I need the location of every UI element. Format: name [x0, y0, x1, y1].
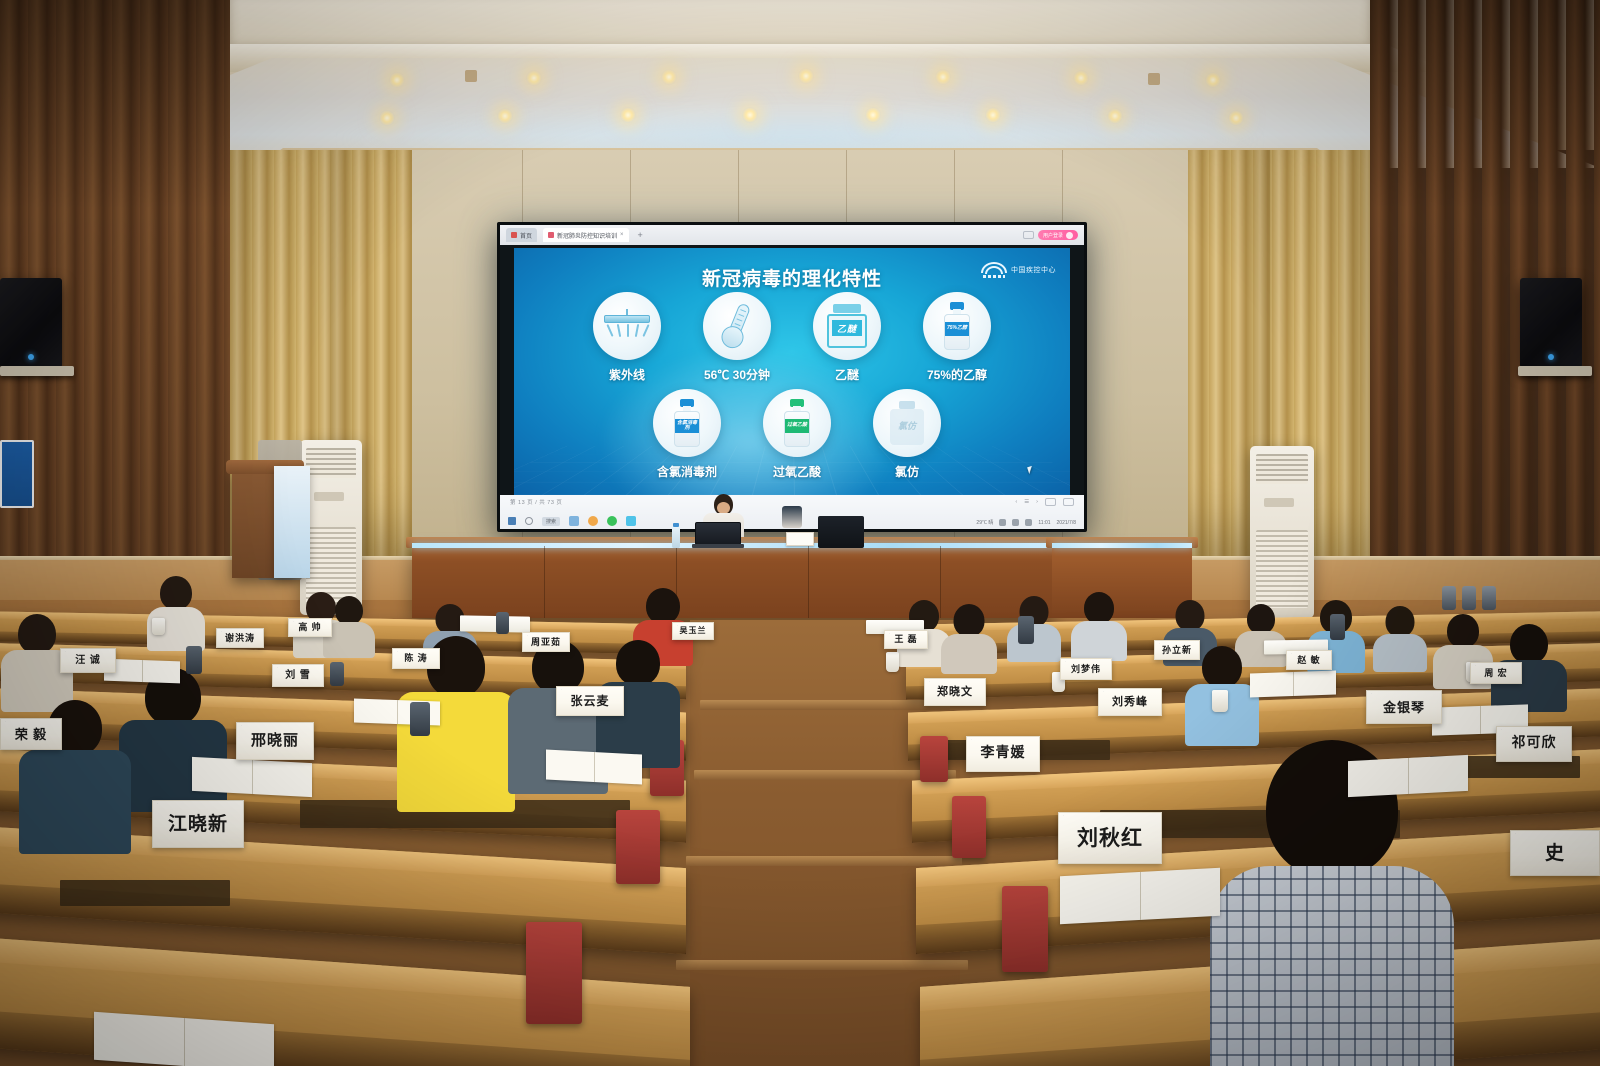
date-label[interactable]: 2021/7/8 [1057, 520, 1076, 526]
nameplate-text: 荣 毅 [15, 728, 47, 741]
nameplate: ·李青媛 [966, 736, 1040, 772]
nameplate-text: 史 [1545, 844, 1565, 863]
nameplate-brand: · [929, 681, 930, 684]
projection-screen[interactable]: 首页 新冠肺炎防控知识培训 × + 用户登录 新冠病毒的理化特性 [497, 222, 1087, 532]
slide-item-label: 56℃ 30分钟 [689, 366, 785, 383]
ceiling-light [1107, 108, 1123, 124]
nameplate-brand: · [277, 667, 278, 670]
seat [952, 796, 986, 858]
slide-item-temperature: 56℃ 30分钟 [689, 292, 785, 383]
nameplate-text: 孙立新 [1162, 646, 1192, 655]
slide-item-label: 紫外线 [579, 366, 675, 383]
slide-item-chloroform: 氯仿 氯仿 [859, 389, 955, 480]
paper [460, 615, 530, 632]
nameplate-brand: · [1515, 833, 1516, 836]
seat [526, 922, 582, 1024]
bottle-cap [673, 523, 679, 527]
nameplate-text: 陈 涛 [404, 654, 427, 663]
nameplate-brand: · [157, 803, 158, 806]
notebook [546, 749, 642, 784]
left-wall-speaker [0, 278, 62, 368]
presenter-laptop[interactable] [692, 522, 744, 548]
slide-item-label: 氯仿 [859, 463, 955, 480]
aisle-step [686, 856, 962, 866]
account-label: 用户登录 [1043, 232, 1063, 239]
nameplate-brand: · [527, 635, 528, 638]
attendee-torso [1210, 866, 1454, 1066]
hall-right-ac-unit [1250, 446, 1314, 618]
prev-page-icon[interactable]: ‹ [1015, 499, 1017, 505]
bottle-label: 含氯消毒剂 [675, 419, 699, 433]
tumbler [1482, 586, 1496, 610]
nameplate-text: 高 帅 [298, 623, 321, 632]
ceiling-light [389, 72, 405, 88]
fit-page-icon[interactable] [1045, 498, 1056, 506]
home-favicon-icon [511, 232, 517, 238]
nameplate: ·赵 敏 [1286, 650, 1332, 670]
nameplate-text: 郑晓文 [937, 687, 973, 698]
nameplate-brand: · [1475, 665, 1476, 668]
bottle-icon: 75%乙醇 [923, 292, 991, 360]
nameplate: ·吴玉兰 [672, 622, 714, 640]
stage-desk-edge-light [1052, 543, 1192, 548]
nameplate-brand: · [1371, 693, 1372, 696]
aisle-step [694, 770, 956, 780]
attendee [940, 604, 998, 670]
nameplate-brand: · [293, 621, 294, 624]
nameplate-text: 李青媛 [981, 747, 1026, 761]
ceiling-light [526, 70, 542, 86]
taskbar-video-thumb[interactable] [782, 506, 802, 528]
network-icon[interactable] [1012, 519, 1019, 526]
bottle-label: 过氧乙酸 [785, 419, 809, 433]
speaker-led [1548, 354, 1554, 360]
volume-icon[interactable] [1025, 519, 1032, 526]
browser-icon[interactable] [588, 516, 598, 526]
tumbler [1018, 616, 1034, 644]
nameplate-brand: · [561, 689, 562, 692]
slide-item-label: 75%的乙醇 [909, 366, 1005, 383]
right-speaker-bracket [1518, 366, 1592, 376]
next-page-icon[interactable]: › [1036, 499, 1038, 505]
nameplate-brand: · [889, 633, 890, 636]
nameplate-brand: · [5, 721, 6, 724]
cup [152, 618, 165, 635]
browser-tab-label: 新冠肺炎防控知识培训 [557, 231, 617, 240]
tumbler [330, 662, 344, 686]
nameplate-brand: · [1065, 661, 1066, 664]
slide-item-ethanol: 75%乙醇 75%的乙醇 [909, 292, 1005, 383]
nameplate: ·刘 雪 [272, 664, 324, 687]
attendee [1006, 596, 1062, 658]
nameplate-text: 祁可欣 [1512, 737, 1557, 751]
ceiling-sensor [465, 70, 477, 82]
nameplate: ·谢洪涛 [216, 628, 264, 648]
nameplate: ·周 宏 [1470, 662, 1522, 684]
bottle-green-icon: 过氧乙酸 [763, 389, 831, 457]
seat [1002, 886, 1048, 972]
nameplate-text: 邢晓丽 [251, 734, 299, 749]
slide-icon-row-1: 紫外线 56℃ 30分钟 [514, 292, 1070, 383]
nameplate-brand: · [1501, 729, 1502, 732]
nameplate: ·高 帅 [288, 618, 332, 637]
ac-grille-icon [1256, 530, 1308, 608]
ceiling-light [865, 107, 881, 123]
nameplate-brand: · [1063, 815, 1064, 818]
browser-tab-bar[interactable]: 首页 新冠肺炎防控知识培训 × + 用户登录 [500, 225, 1084, 245]
avatar-icon [1066, 232, 1073, 239]
browser-tab-1[interactable]: 新冠肺炎防控知识培训 × [543, 228, 629, 242]
nameplate: ·陈 涛 [392, 648, 440, 669]
nameplate-text: 谢洪涛 [225, 634, 255, 643]
nameplate-text: 周亚茹 [531, 638, 561, 647]
search-icon[interactable] [525, 517, 533, 525]
new-tab-button[interactable]: + [635, 230, 646, 240]
cdc-emblem-icon [981, 262, 1007, 278]
aisle-step [676, 960, 968, 970]
ceiling-light [935, 69, 951, 85]
uv-lamp-icon [593, 292, 661, 360]
slide-item-label: 乙醚 [799, 366, 895, 383]
nameplate: ·孙立新 [1154, 640, 1200, 660]
tumbler [1330, 614, 1345, 640]
nameplate: ·郑晓文 [924, 678, 986, 706]
weather-label: 29℃ 晴 [976, 519, 993, 526]
ceiling-light [985, 107, 1001, 123]
tumbler [496, 612, 509, 634]
attendee [1372, 606, 1428, 668]
tabbar-right-controls: 用户登录 [1023, 230, 1078, 240]
nameplate-brand: · [241, 725, 242, 728]
fullscreen-icon[interactable] [1063, 498, 1074, 506]
taskbar-system-tray[interactable]: 29℃ 晴 11:01 2021/7/8 [976, 519, 1076, 526]
ceiling-light [1205, 72, 1221, 88]
nameplate-text: 刘 雪 [285, 671, 311, 681]
nameplate-text: 吴玉兰 [680, 627, 707, 635]
clock-label[interactable]: 11:01 [1038, 520, 1050, 526]
ceiling-light [379, 110, 395, 126]
seat [920, 736, 948, 782]
lectern-banner [274, 466, 310, 578]
browser-tab-0[interactable]: 首页 [506, 228, 537, 242]
nameplate: ·刘秋红 [1058, 812, 1162, 864]
speaker-led [28, 354, 34, 360]
close-icon[interactable]: × [620, 232, 624, 238]
ceiling-light [742, 107, 758, 123]
taskview-icon[interactable] [569, 516, 579, 526]
cdc-logo-text: 中国疾控中心 [1011, 265, 1056, 275]
ceiling-sensor [1148, 73, 1160, 85]
ac-badge [1264, 498, 1294, 507]
slide-item-label: 含氯消毒剂 [639, 463, 735, 480]
nameplate-text: 刘秀峰 [1112, 697, 1148, 708]
nameplate: ·金银琴 [1366, 690, 1442, 724]
nameplate-text: 王 磊 [894, 635, 917, 644]
wechat-icon[interactable] [607, 516, 617, 526]
nameplate-text: 周 宏 [1484, 669, 1507, 678]
notebook [1250, 670, 1336, 697]
slide-icon-row-2: 含氯消毒剂 含氯消毒剂 过氧乙酸 过氧乙酸 [514, 389, 1070, 480]
slide-item-chlorine: 含氯消毒剂 含氯消毒剂 [639, 389, 735, 480]
notebook [1348, 755, 1468, 797]
nameplate-text: 刘秋红 [1077, 828, 1143, 849]
desk-shelf-gap [60, 880, 230, 906]
slide-item-peracetic: 过氧乙酸 过氧乙酸 [749, 389, 845, 480]
nameplate: ·汪 诚 [60, 648, 116, 673]
nameplate: ·史 [1510, 830, 1600, 876]
seat [616, 810, 660, 884]
presentation-slide[interactable]: 新冠病毒的理化特性 中国疾控中心 [514, 248, 1070, 495]
ppt-favicon-icon [548, 232, 554, 238]
thermometer-icon [703, 292, 771, 360]
ac-vent-icon [306, 448, 356, 478]
nameplate-text: 江晓新 [168, 815, 228, 834]
ceiling-light [798, 68, 814, 84]
ceiling-light [620, 107, 636, 123]
ceiling-light [1228, 110, 1244, 126]
tumbler [410, 702, 430, 736]
menu-icon[interactable]: ☰ [1024, 499, 1029, 505]
tumbler [186, 646, 202, 674]
bottle-label: 75%乙醇 [945, 322, 969, 336]
page-indicator: 第 13 页 / 共 73 页 [510, 498, 562, 506]
browser-tab-label: 首页 [520, 231, 532, 240]
attendee [1070, 592, 1128, 656]
left-speaker-bracket [0, 366, 74, 376]
nameplate-brand: · [397, 651, 398, 654]
nameplate: ·祁可欣 [1496, 726, 1572, 762]
nameplate: ·王 磊 [884, 630, 928, 649]
ceiling-light [1073, 70, 1089, 86]
tray-icon[interactable] [999, 519, 1006, 526]
nameplate-brand: · [971, 739, 972, 742]
nameplate-brand: · [677, 625, 678, 628]
slide-item-uv: 紫外线 [579, 292, 675, 383]
viewer-controls[interactable]: ‹ ☰ › [1015, 498, 1074, 506]
nameplate-text: 刘梦伟 [1071, 665, 1101, 674]
nameplate: ·荣 毅 [0, 718, 62, 750]
bottle-icon: 含氯消毒剂 [653, 389, 721, 457]
nameplate: ·刘梦伟 [1060, 658, 1112, 680]
laptop-base [692, 544, 744, 548]
notebook [192, 757, 312, 797]
cup [886, 652, 899, 672]
ac-badge [314, 492, 344, 501]
jar-label: 乙醚 [832, 320, 862, 336]
tumbler [1462, 586, 1476, 610]
lecture-hall-scene: 首页 新冠肺炎防控知识培训 × + 用户登录 新冠病毒的理化特性 [0, 0, 1600, 1066]
start-button-icon[interactable] [508, 517, 516, 525]
nameplate: ·张云麦 [556, 686, 624, 716]
nameplate-text: 金银琴 [1383, 701, 1425, 714]
search-box[interactable]: 搜索 [542, 517, 560, 526]
can-icon: 氯仿 [873, 389, 941, 457]
stage-monitor [818, 516, 864, 548]
cup [1212, 690, 1228, 712]
nameplate-brand: · [1159, 643, 1160, 646]
windows-taskbar[interactable]: 第 13 页 / 共 73 页 ‹ ☰ › 搜索 [500, 495, 1084, 529]
nameplate: ·刘秀峰 [1098, 688, 1162, 716]
presenter-water-bottle [672, 526, 680, 548]
slide-icon-grid: 紫外线 56℃ 30分钟 [514, 292, 1070, 480]
cdc-logo: 中国疾控中心 [981, 262, 1056, 278]
ceiling-light [661, 69, 677, 85]
nameplate-brand: · [65, 651, 66, 654]
wall-sign-left [0, 440, 34, 508]
ac-vent-icon [1256, 454, 1308, 484]
nameplate-brand: · [221, 631, 222, 634]
laptop-screen [695, 522, 741, 545]
ceiling-light [497, 108, 513, 124]
slide-item-label: 过氧乙酸 [749, 463, 845, 480]
nameplate: ·邢晓丽 [236, 722, 314, 760]
stage-nameplate [786, 532, 814, 546]
nameplate: ·周亚茹 [522, 632, 570, 652]
right-wall-speaker [1520, 278, 1582, 368]
jar-icon: 乙醚 [813, 292, 881, 360]
window-restore-icon[interactable] [1023, 231, 1034, 239]
nameplate-brand: · [1103, 691, 1104, 694]
nameplate-text: 赵 敏 [1297, 656, 1320, 665]
taskbar-left-icons[interactable]: 搜索 [508, 516, 636, 526]
nameplate: ·江晓新 [152, 800, 244, 848]
slide-item-ether: 乙醚 乙醚 [799, 292, 895, 383]
qq-icon[interactable] [626, 516, 636, 526]
nameplate-brand: · [1291, 653, 1292, 656]
can-label: 氯仿 [890, 419, 924, 432]
account-pill[interactable]: 用户登录 [1038, 230, 1078, 240]
attendee [146, 576, 206, 648]
nameplate-text: 汪 诚 [75, 656, 101, 666]
tumbler [1442, 586, 1456, 610]
aisle-step [700, 700, 950, 710]
notebook [1060, 868, 1220, 924]
nameplate-text: 张云麦 [570, 695, 609, 707]
